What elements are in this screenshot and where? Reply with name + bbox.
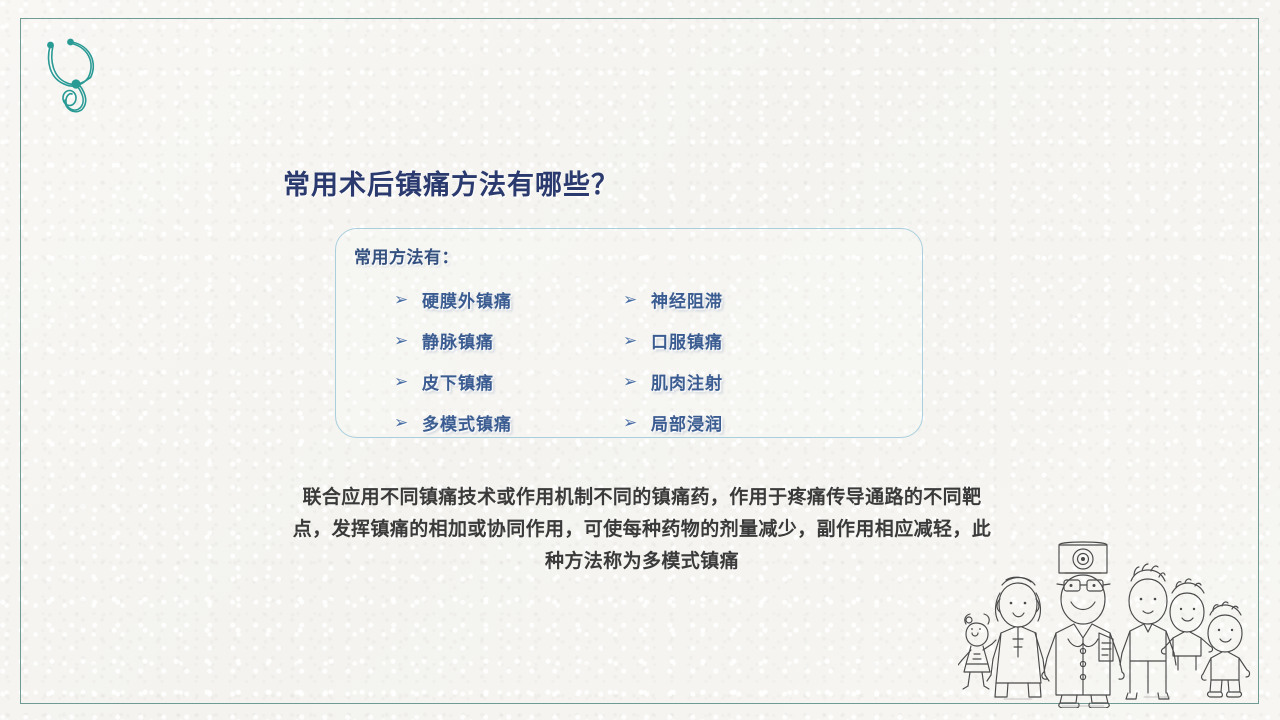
description-paragraph: 联合应用不同镇痛技术或作用机制不同的镇痛药，作用于疼痛传导通路的不同靶点，发挥镇…: [292, 482, 992, 578]
arrow-bullet-icon: ➢: [394, 332, 422, 349]
slide-root: 常用术后镇痛方法有哪些？ 常用方法有： ➢ 硬膜外镇痛 ➢ 静脉镇痛 ➢ 皮下镇…: [0, 0, 1280, 720]
list-item-label: 皮下镇痛: [422, 369, 494, 394]
methods-column-right: ➢ 神经阻滞 ➢ 口服镇痛 ➢ 肌肉注射 ➢ 局部浸润: [601, 279, 901, 443]
list-item-label: 神经阻滞: [651, 287, 723, 312]
list-item[interactable]: ➢ 多模式镇痛: [394, 402, 601, 443]
list-item[interactable]: ➢ 口服镇痛: [623, 320, 901, 361]
methods-box-label: 常用方法有：: [354, 243, 459, 268]
list-item[interactable]: ➢ 硬膜外镇痛: [394, 279, 601, 320]
page-title: 常用术后镇痛方法有哪些？: [283, 163, 619, 202]
arrow-bullet-icon: ➢: [623, 414, 651, 431]
list-item-label: 口服镇痛: [651, 328, 723, 353]
doctor-and-family-line-art-icon: [958, 523, 1258, 708]
list-item-label: 肌肉注射: [651, 369, 723, 394]
list-item[interactable]: ➢ 静脉镇痛: [394, 320, 601, 361]
list-item[interactable]: ➢ 皮下镇痛: [394, 361, 601, 402]
arrow-bullet-icon: ➢: [623, 373, 651, 390]
list-item-label: 多模式镇痛: [422, 410, 512, 435]
methods-box: 常用方法有： ➢ 硬膜外镇痛 ➢ 静脉镇痛 ➢ 皮下镇痛 ➢ 多模式镇痛: [335, 228, 923, 438]
list-item-label: 静脉镇痛: [422, 328, 494, 353]
arrow-bullet-icon: ➢: [623, 291, 651, 308]
arrow-bullet-icon: ➢: [394, 414, 422, 431]
list-item[interactable]: ➢ 肌肉注射: [623, 361, 901, 402]
arrow-bullet-icon: ➢: [394, 291, 422, 308]
list-item[interactable]: ➢ 神经阻滞: [623, 279, 901, 320]
arrow-bullet-icon: ➢: [623, 332, 651, 349]
arrow-bullet-icon: ➢: [394, 373, 422, 390]
methods-columns: ➢ 硬膜外镇痛 ➢ 静脉镇痛 ➢ 皮下镇痛 ➢ 多模式镇痛 ➢: [336, 279, 922, 443]
list-item-label: 局部浸润: [651, 410, 723, 435]
methods-column-left: ➢ 硬膜外镇痛 ➢ 静脉镇痛 ➢ 皮下镇痛 ➢ 多模式镇痛: [336, 279, 601, 443]
list-item-label: 硬膜外镇痛: [422, 287, 512, 312]
stethoscope-icon: [36, 32, 122, 118]
list-item[interactable]: ➢ 局部浸润: [623, 402, 901, 443]
